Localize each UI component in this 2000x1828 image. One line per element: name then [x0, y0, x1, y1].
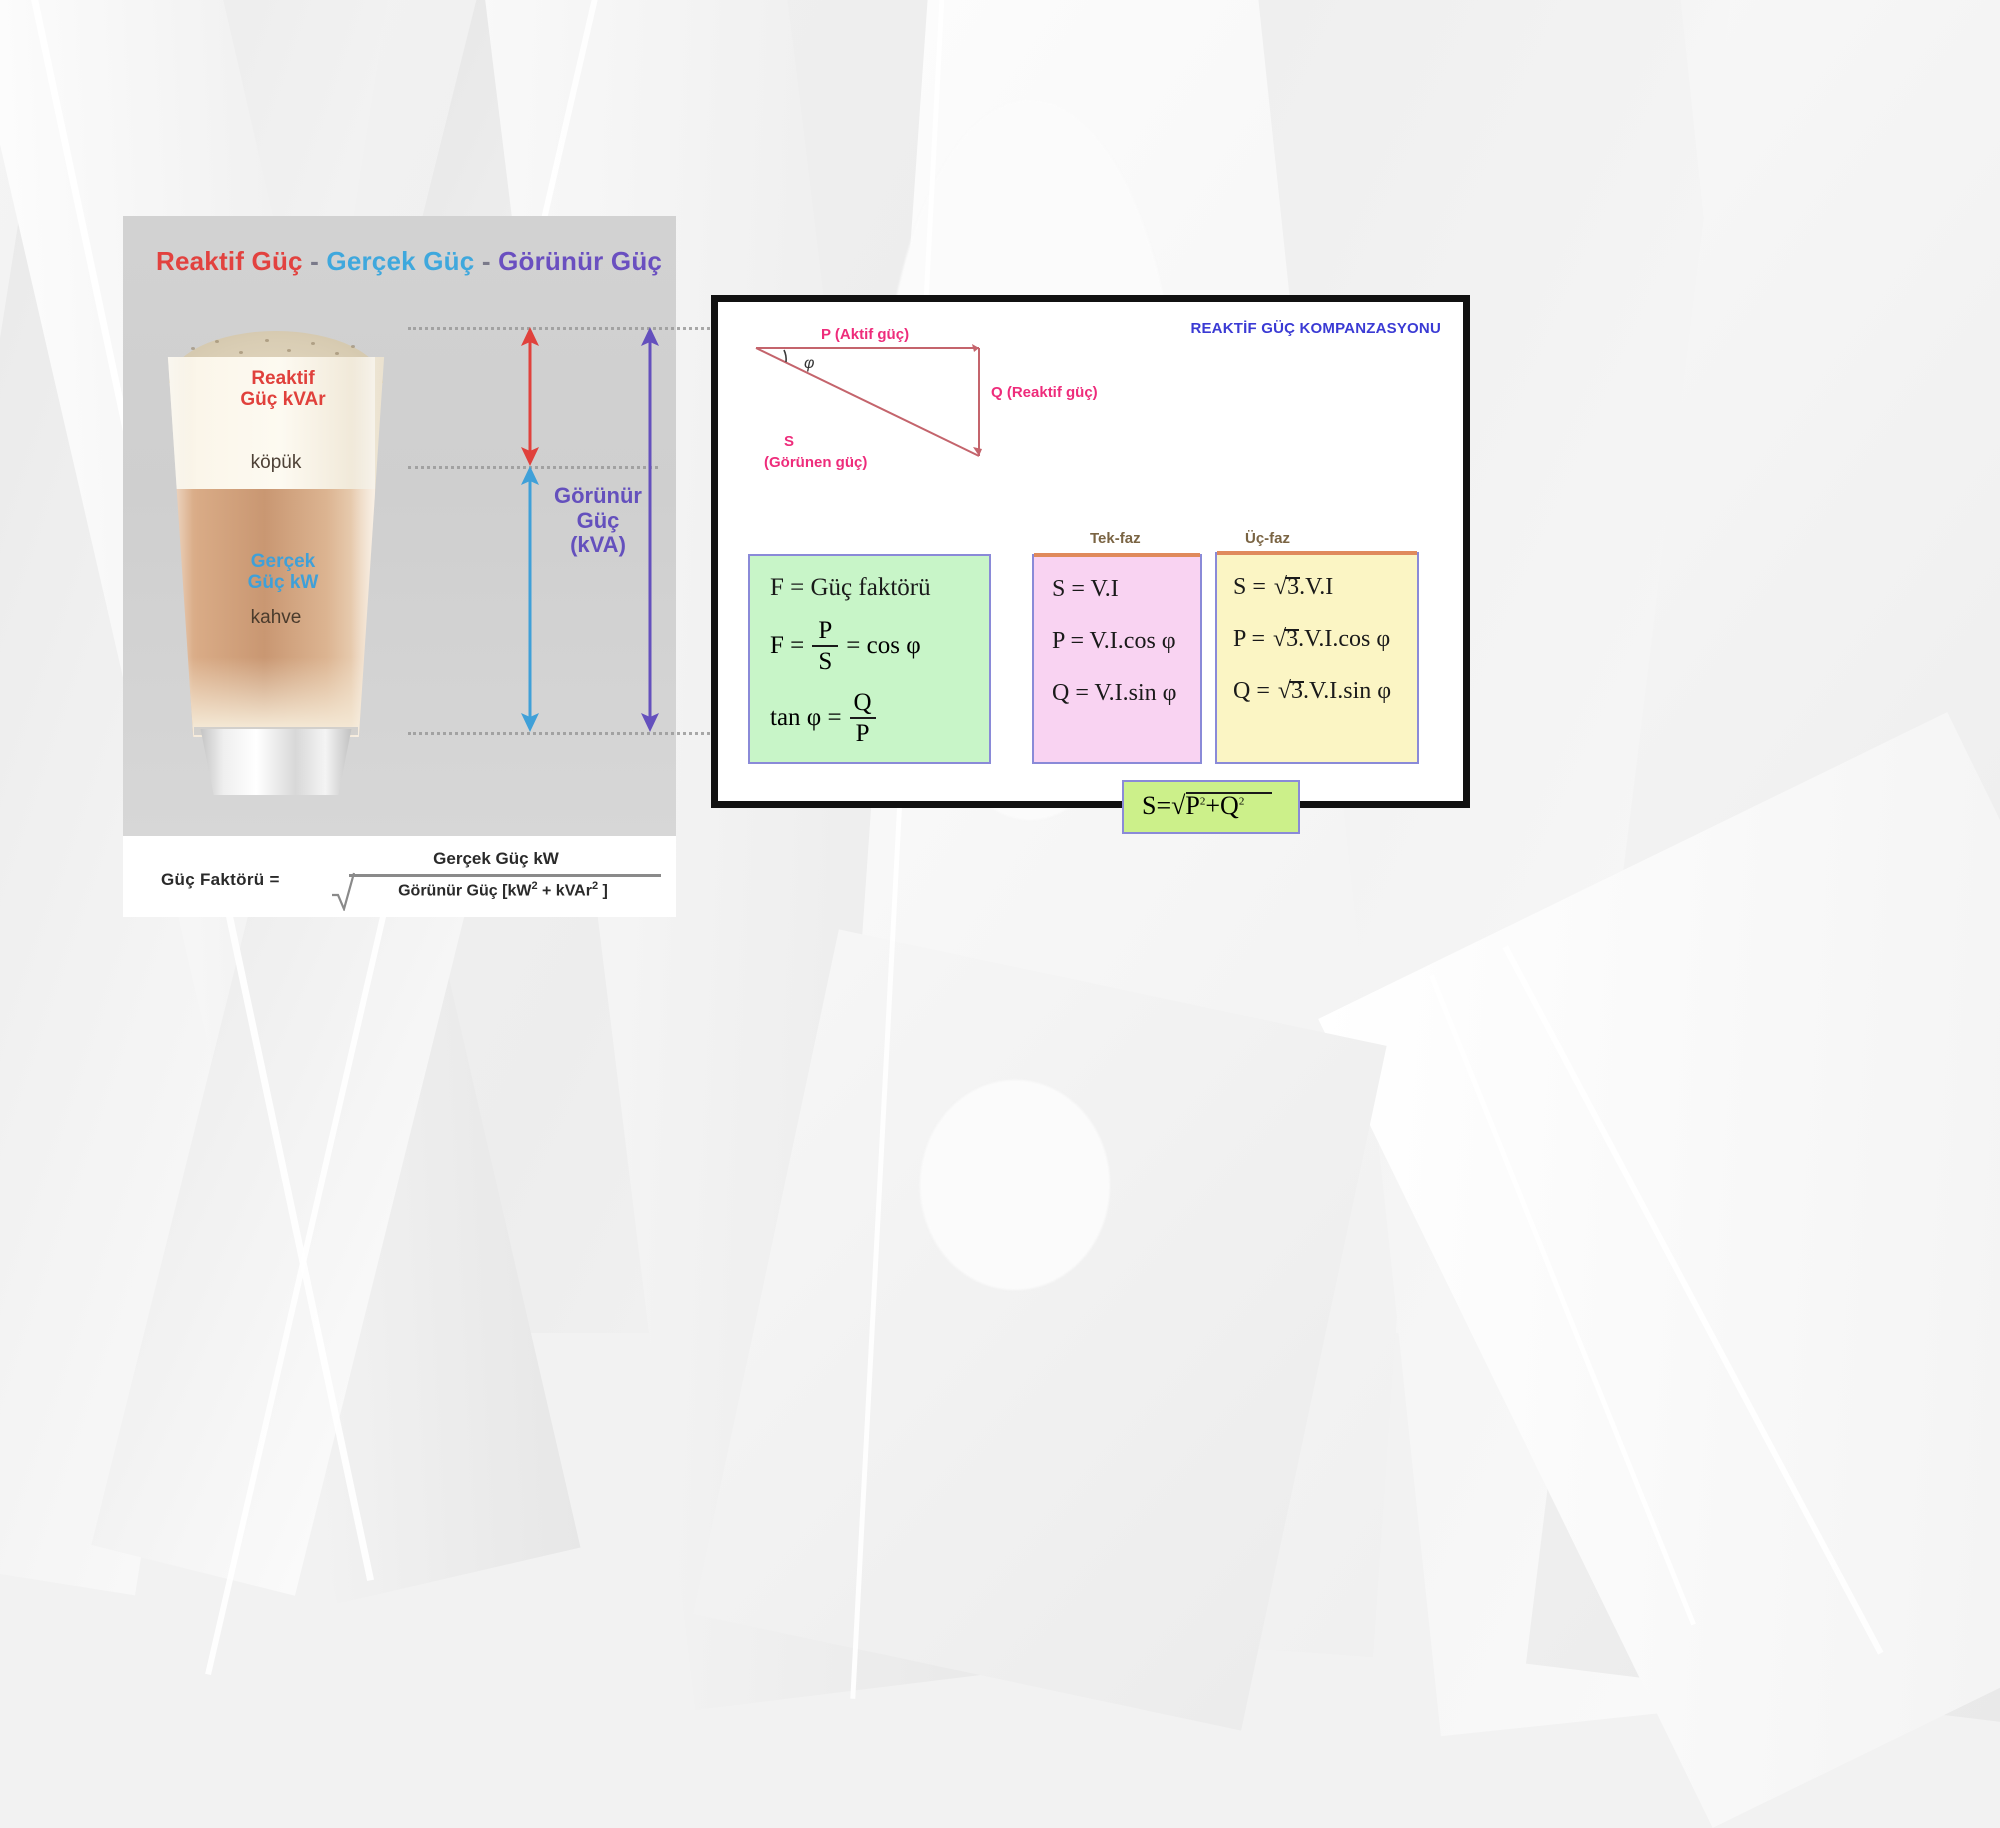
reactive-power-label: Reaktif Güç kVAr [123, 368, 443, 411]
apparent-label-line1: Görünür [554, 483, 642, 508]
triangle-angle-phi: φ [804, 355, 814, 373]
apparent-power-label: Görünür Güç (kVA) [503, 484, 693, 558]
apparent-label-line3: (kVA) [570, 532, 626, 557]
power-triangle-svg [746, 316, 1046, 506]
pink-line-1: S = V.I [1052, 576, 1119, 603]
green-frac2-num: Q [854, 690, 872, 717]
three-phase-formula-box: S = √3.V.I P = √3.V.I.cos φ Q = √3.V.I.s… [1215, 552, 1419, 764]
apparent-power-formula-box: S=√P2+Q2 [1122, 780, 1300, 834]
yellow-l3-pre: Q = [1233, 678, 1276, 704]
background-ribbon-7 [1526, 0, 2000, 1722]
pink-box-topbar [1034, 553, 1200, 557]
yellow-l2-pre: P = [1233, 626, 1271, 652]
green-fraction-ps: P S [812, 618, 838, 674]
coffee-analogy-card: Reaktif Güç - Gerçek Güç - Görünür Güç k… [123, 216, 676, 836]
s-formula: S=√P2+Q2 [1142, 791, 1244, 821]
power-factor-formula-strip: Güç Faktörü = Gerçek Güç kW Görünür Güç … [123, 836, 676, 917]
background-ribbon-8 [1318, 712, 2000, 1828]
green-line-3: tan φ = Q P [770, 690, 884, 746]
triangle-label-S-sub: (Görünen güç) [764, 454, 867, 471]
yellow-radbar-2 [1284, 629, 1299, 631]
triangle-label-S: S [784, 433, 794, 450]
pf-denominator: Görünür Güç [kW2 + kVAr2 ] [345, 880, 661, 900]
green-frac-den: S [818, 647, 832, 674]
apparent-label-line2: Güç [577, 508, 620, 533]
green-fraction-qp: Q P [850, 690, 876, 746]
right-card-header: REAKTİF GÜÇ KOMPANZASYONU [1190, 320, 1441, 337]
yellow-l3-post: 3.V.I.sin φ [1291, 678, 1391, 704]
pink-line-3: Q = V.I.sin φ [1052, 680, 1177, 707]
yellow-line-1: S = √3.V.I [1233, 574, 1333, 601]
s-inner-p: P [1185, 791, 1199, 820]
power-factor-box: F = Güç faktörü F = P S = cos φ tan φ = … [748, 554, 991, 764]
sqrt-icon: √ [1276, 678, 1291, 705]
reactive-power-compensation-card: REAKTİF GÜÇ KOMPANZASYONU P (Aktif güç) … [711, 295, 1470, 808]
caption-three-phase: Üç-faz [1245, 530, 1290, 547]
triangle-label-Q: Q (Reaktif güç) [991, 384, 1098, 401]
triangle-label-P: P (Aktif güç) [821, 326, 909, 343]
yellow-l2-post: 3.V.I.cos φ [1286, 626, 1390, 652]
sqrt-icon: √ [1271, 626, 1286, 653]
yellow-l1-pre: S = [1233, 574, 1272, 600]
pf-den-prefix: Görünür Güç [kW [398, 882, 531, 899]
green-frac2-den: P [856, 719, 870, 746]
power-factor-label: Güç Faktörü = [161, 870, 280, 890]
green-line3-lhs: tan φ = [770, 704, 842, 732]
sqrt-icon: √P2+Q2 [1171, 791, 1244, 821]
s-radical: √ [1171, 791, 1185, 820]
reactive-label-line2: Güç kVAr [240, 389, 325, 410]
power-triangle: P (Aktif güç) Q (Reaktif güç) S (Görünen… [746, 316, 1046, 506]
reactive-power-arrow [521, 327, 539, 466]
reactive-label-line1: Reaktif [251, 368, 314, 389]
power-factor-fraction: Gerçek Güç kW Görünür Güç [kW2 + kVAr2 ] [331, 849, 661, 907]
yellow-radbar-1 [1285, 577, 1300, 579]
yellow-line-2: P = √3.V.I.cos φ [1233, 626, 1390, 653]
real-power-label: Gerçek Güç kW [123, 551, 443, 594]
real-label-line1: Gerçek [251, 551, 315, 572]
background-blob-2 [920, 1080, 1110, 1290]
pf-den-mid: + kVAr [538, 882, 592, 899]
background-ribbon-9 [693, 929, 1386, 1730]
s-lhs: S= [1142, 791, 1171, 820]
background-ribbon-6 [1221, 0, 1858, 1736]
yellow-radbar-3 [1289, 681, 1304, 683]
green-line2-rhs: = cos φ [846, 632, 920, 660]
pf-numerator: Gerçek Güç kW [331, 849, 661, 869]
yellow-line-3: Q = √3.V.I.sin φ [1233, 678, 1391, 705]
green-line2-lhs: F = [770, 632, 804, 660]
pf-den-suffix: ] [598, 882, 608, 899]
s-radical-bar [1186, 792, 1272, 794]
background-hairline-5 [1429, 975, 1696, 1626]
pink-line-2: P = V.I.cos φ [1052, 628, 1176, 655]
caption-single-phase: Tek-faz [1090, 530, 1141, 547]
green-line-2: F = P S = cos φ [770, 618, 921, 674]
real-label-line2: Güç kW [248, 572, 319, 593]
s-plus-q: +Q [1205, 791, 1238, 820]
s-sup-q: 2 [1239, 795, 1245, 807]
sqrt-icon: √ [1272, 574, 1287, 601]
green-frac-num: P [818, 618, 832, 645]
green-line-1: F = Güç faktörü [770, 574, 931, 602]
pf-fraction-bar [349, 874, 661, 877]
yellow-box-topbar [1217, 551, 1417, 555]
single-phase-formula-box: S = V.I P = V.I.cos φ Q = V.I.sin φ [1032, 554, 1202, 764]
